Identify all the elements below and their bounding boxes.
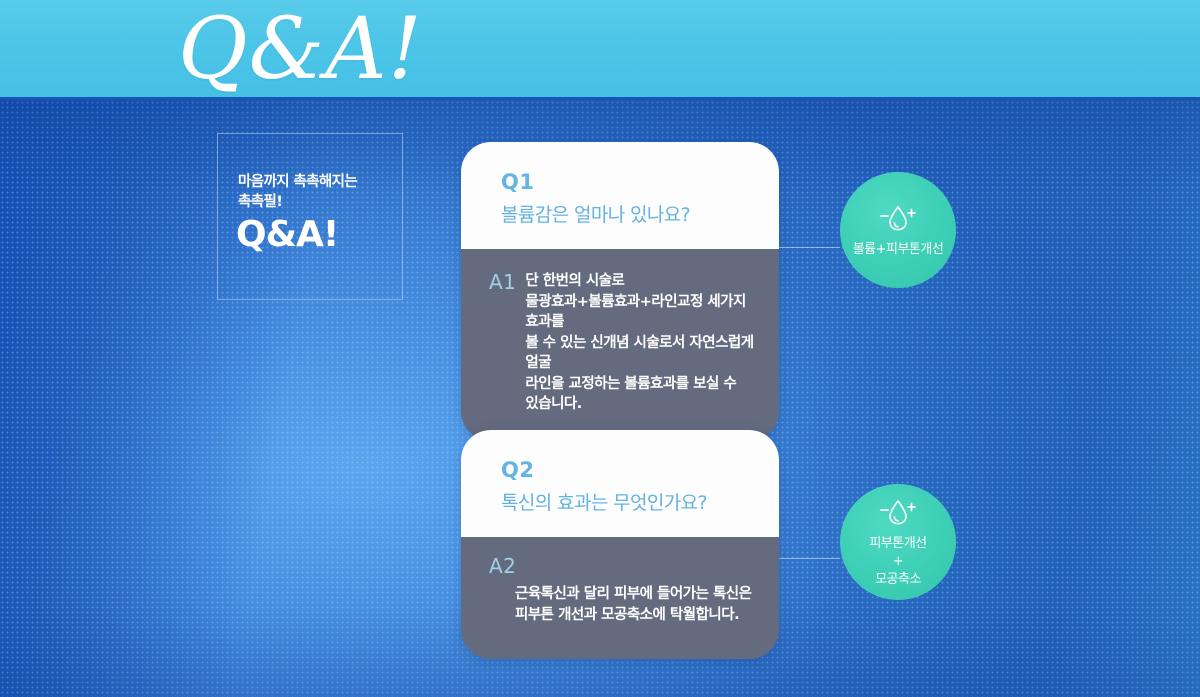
intro-subtitle: 마음까지 촉촉해지는 촉촉필! [238, 172, 398, 212]
benefit-badge[interactable]: 볼륨+피부톤개선 [840, 172, 956, 288]
water-drop-icon [867, 202, 929, 236]
question-panel: Q1 볼륨감은 얼마나 있나요? [461, 142, 779, 249]
qa-card[interactable]: Q1 볼륨감은 얼마나 있나요? A1 단 한번의 시술로 물광효과+볼륨효과+… [461, 142, 779, 441]
question-tag: Q2 [501, 458, 779, 482]
question-tag: Q1 [501, 170, 779, 194]
intro-subtitle-line-1: 마음까지 촉촉해지는 [238, 172, 398, 192]
intro-subtitle-line-2: 촉촉필! [238, 192, 398, 212]
question-text: 톡신의 효과는 무엇인가요? [501, 491, 779, 515]
question-panel: Q2 톡신의 효과는 무엇인가요? [461, 430, 779, 537]
answer-panel: A1 단 한번의 시술로 물광효과+볼륨효과+라인교정 세가지 효과를 볼 수 … [461, 249, 779, 441]
benefit-badge[interactable]: 피부톤개선 + 모공축소 [840, 484, 956, 600]
question-text: 볼륨감은 얼마나 있나요? [501, 203, 779, 227]
page-header: Q&A! [0, 0, 1200, 100]
connector-card2-to-badge2 [778, 558, 840, 559]
answer-tag: A1 [489, 271, 516, 293]
header-title: Q&A! [178, 2, 423, 98]
qa-infographic: Q&A! 마음까지 촉촉해지는 촉촉필! Q&A! Q1 볼륨감은 얼마나 있나… [0, 0, 1200, 697]
answer-tag: A2 [489, 555, 757, 577]
answer-text: 단 한번의 시술로 물광효과+볼륨효과+라인교정 세가지 효과를 볼 수 있는 … [525, 271, 757, 415]
intro-box: 마음까지 촉촉해지는 촉촉필! Q&A! [217, 133, 403, 300]
answer-text: 근육톡신과 달리 피부에 들어가는 톡신은 피부톤 개선과 모공축소에 탁월합니… [515, 584, 757, 625]
connector-card1-to-badge1 [778, 247, 840, 248]
answer-panel: A2 근육톡신과 달리 피부에 들어가는 톡신은 피부톤 개선과 모공축소에 탁… [461, 537, 779, 659]
intro-title: Q&A! [236, 214, 338, 256]
water-drop-icon [867, 496, 929, 530]
qa-card[interactable]: Q2 톡신의 효과는 무엇인가요? A2 근육톡신과 달리 피부에 들어가는 톡… [461, 430, 779, 659]
benefit-badge-label: 볼륨+피부톤개선 [853, 241, 944, 259]
benefit-badge-label: 피부톤개선 + 모공축소 [869, 535, 926, 589]
